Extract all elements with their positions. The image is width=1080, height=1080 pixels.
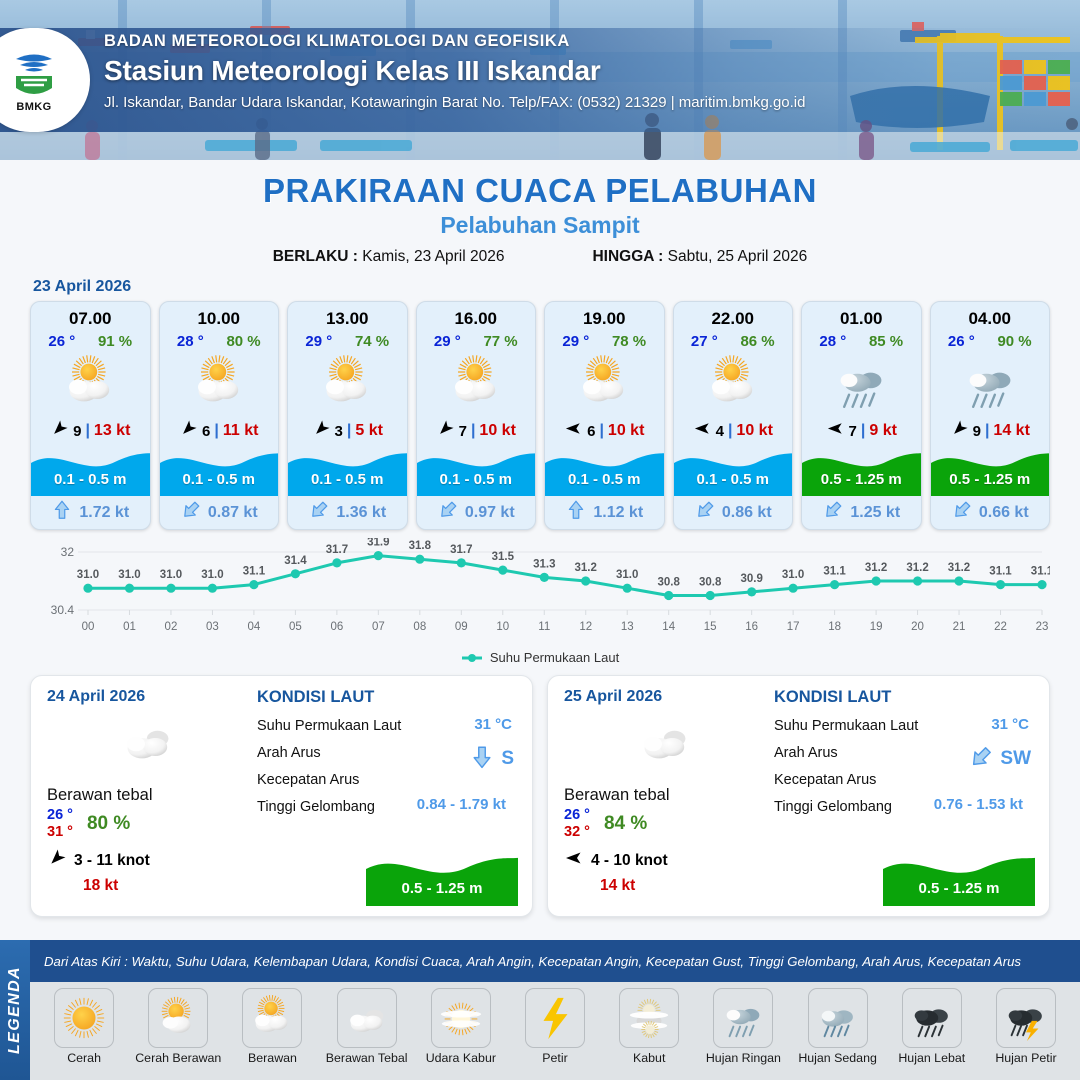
wind-direction-arrow-icon (564, 419, 583, 443)
forecast-card[interactable]: 16.00 29 ° 77 % 7 | 10 kt (416, 301, 537, 530)
card-time: 19.00 (545, 302, 664, 329)
day-temp-min: 26 ° (564, 807, 590, 824)
svg-text:31.4: 31.4 (284, 555, 307, 567)
svg-text:21: 21 (953, 621, 966, 633)
card-humidity: 91 % (98, 333, 132, 350)
svg-text:05: 05 (289, 621, 302, 633)
svg-text:31.0: 31.0 (118, 569, 140, 581)
overcast-icon (337, 988, 397, 1048)
svg-text:13: 13 (621, 621, 634, 633)
legend-item: Cerah Berawan (132, 988, 224, 1065)
current-direction-arrow-icon (308, 499, 330, 526)
legend-item-label: Berawan Tebal (326, 1051, 408, 1065)
forecast-card[interactable]: 10.00 28 ° 80 % 6 | 11 kt (159, 301, 280, 530)
day-wind: 4 - 10 knot (564, 848, 766, 873)
card-separator: | (728, 422, 732, 440)
sunny-icon (54, 988, 114, 1048)
svg-text:06: 06 (330, 621, 343, 633)
day-condition: Berawan tebal (564, 786, 766, 805)
svg-text:07: 07 (372, 621, 385, 633)
card-gust: 10 kt (608, 422, 644, 440)
legend-item-label: Hujan Sedang (798, 1051, 877, 1065)
current-direction-arrow-icon (822, 499, 844, 526)
card-current-speed: 1.72 kt (79, 504, 129, 522)
card-wave-height: 0.5 - 1.25 m (802, 471, 921, 488)
card-humidity: 74 % (355, 333, 389, 350)
card-gust: 5 kt (355, 422, 383, 440)
wind-direction-arrow-icon (693, 419, 712, 443)
card-wind: 4 | 10 kt (674, 416, 793, 446)
legend-section: LEGENDA Dari Atas Kiri : Waktu, Suhu Uda… (0, 940, 1080, 1080)
svg-text:31.9: 31.9 (367, 538, 389, 549)
svg-text:30.8: 30.8 (699, 577, 722, 589)
card-current: 1.12 kt (545, 496, 664, 529)
card-time: 10.00 (160, 302, 279, 329)
svg-text:15: 15 (704, 621, 717, 633)
valid-until-label: HINGGA : (592, 248, 663, 265)
card-separator: | (861, 422, 865, 440)
svg-text:31.1: 31.1 (989, 566, 1012, 578)
card-wind-direction: 9 (73, 423, 81, 440)
day-sea-conditions: KONDISI LAUT Suhu Permukaan Laut 31 °C A… (249, 688, 518, 904)
day-wind: 3 - 11 knot (47, 848, 249, 873)
card-time: 01.00 (802, 302, 921, 329)
svg-text:30.9: 30.9 (741, 573, 763, 585)
lightning-icon (525, 988, 585, 1048)
day-humidity: 80 % (87, 813, 130, 835)
wind-direction-arrow-icon (47, 848, 67, 873)
chart-legend: Suhu Permukaan Laut (0, 650, 1080, 665)
day-temp-max: 31 ° (47, 824, 73, 841)
card-time: 07.00 (31, 302, 150, 329)
card-wave-height: 0.1 - 0.5 m (674, 471, 793, 488)
svg-text:09: 09 (455, 621, 468, 633)
partly-cloudy-icon (31, 352, 150, 416)
card-current: 0.66 kt (931, 496, 1050, 529)
svg-text:22: 22 (994, 621, 1007, 633)
legend-note-bar: Dari Atas Kiri : Waktu, Suhu Udara, Kele… (30, 940, 1080, 982)
card-wave-height: 0.1 - 0.5 m (288, 471, 407, 488)
day-wave-height: 0.5 - 1.25 m (366, 880, 518, 897)
station-address: Jl. Iskandar, Bandar Udara Iskandar, Kot… (104, 94, 805, 111)
card-wind: 3 | 5 kt (288, 416, 407, 446)
legend-spine-label: LEGENDA (6, 966, 24, 1054)
card-wind-direction: 7 (849, 423, 857, 440)
svg-text:12: 12 (579, 621, 592, 633)
title-block: PRAKIRAAN CUACA PELABUHAN Pelabuhan Samp… (0, 160, 1080, 266)
legend-item-label: Hujan Lebat (898, 1051, 965, 1065)
current-speed-value: 0.84 - 1.79 kt (417, 796, 506, 813)
valid-until: HINGGA : Sabtu, 25 April 2026 (592, 248, 807, 266)
sst-value: 31 °C (474, 716, 512, 733)
valid-from-value: Kamis, 23 April 2026 (362, 248, 504, 265)
current-direction-arrow-icon (968, 744, 994, 774)
svg-text:31.3: 31.3 (533, 558, 555, 570)
svg-text:31.8: 31.8 (409, 540, 432, 552)
legend-item-label: Udara Kabur (426, 1051, 496, 1065)
svg-text:31.1: 31.1 (1031, 566, 1050, 578)
card-time: 22.00 (674, 302, 793, 329)
partly-cloudy-icon (545, 352, 664, 416)
svg-text:31.0: 31.0 (616, 569, 638, 581)
partly-cloudy-icon (417, 352, 536, 416)
card-gust: 10 kt (736, 422, 772, 440)
card-time: 13.00 (288, 302, 407, 329)
current-speed-label: Kecepatan Arus (774, 772, 1035, 788)
partly-cloudy-icon (674, 352, 793, 416)
card-separator: | (471, 422, 475, 440)
card-wave-height: 0.1 - 0.5 m (417, 471, 536, 488)
card-humidity: 78 % (612, 333, 646, 350)
valid-from-label: BERLAKU : (273, 248, 358, 265)
daily-summary-panel[interactable]: 25 April 2026 Berawan tebal 26 ° 32 ° 84… (547, 675, 1050, 917)
legend-item: Hujan Petir (980, 988, 1072, 1065)
card-temperature: 28 ° (177, 333, 204, 350)
day-wave-badge: 0.5 - 1.25 m (366, 850, 518, 906)
fog-icon (619, 988, 679, 1048)
card-current-speed: 1.36 kt (336, 504, 386, 522)
moderate-rain-icon (808, 988, 868, 1048)
partly-cloudy-icon (288, 352, 407, 416)
card-current: 0.86 kt (674, 496, 793, 529)
port-name: Pelabuhan Sampit (0, 212, 1080, 239)
card-separator: | (214, 422, 218, 440)
current-direction-arrow-icon (51, 499, 73, 526)
current-direction-value: SW (968, 744, 1031, 774)
legend-item-label: Hujan Petir (995, 1051, 1056, 1065)
legend-item-label: Hujan Ringan (706, 1051, 781, 1065)
svg-text:31.0: 31.0 (77, 569, 99, 581)
card-humidity: 85 % (869, 333, 903, 350)
card-temperature: 27 ° (691, 333, 718, 350)
day-condition: Berawan tebal (47, 786, 249, 805)
card-current-speed: 1.25 kt (850, 504, 900, 522)
sst-chart-svg: 3230.40001020304050607080910111213141516… (30, 538, 1050, 648)
card-wind: 9 | 13 kt (31, 416, 150, 446)
card-temperature: 29 ° (434, 333, 461, 350)
forecast-date-label: 23 April 2026 (33, 278, 1080, 296)
bmkg-emblem-icon (10, 48, 58, 100)
card-temp-hum: 29 ° 77 % (417, 329, 536, 350)
card-current: 0.97 kt (417, 496, 536, 529)
card-temperature: 29 ° (562, 333, 589, 350)
day-temps: 26 ° 32 ° 84 % (564, 807, 766, 840)
legend-item: Udara Kabur (415, 988, 507, 1065)
card-separator: | (85, 422, 89, 440)
light-rain-icon (713, 988, 773, 1048)
card-gust: 14 kt (993, 422, 1029, 440)
card-wind: 6 | 11 kt (160, 416, 279, 446)
station-name: Stasiun Meteorologi Kelas III Iskandar (104, 55, 805, 87)
light-rain-icon (931, 352, 1050, 416)
legend-item: Berawan Tebal (321, 988, 413, 1065)
card-wind-direction: 9 (973, 423, 981, 440)
card-temperature: 26 ° (948, 333, 975, 350)
card-wind-direction: 3 (335, 423, 343, 440)
svg-text:30.4: 30.4 (51, 603, 75, 617)
day-left: 25 April 2026 Berawan tebal 26 ° 32 ° 84… (564, 688, 766, 904)
card-wave: 0.1 - 0.5 m (545, 446, 664, 496)
day-temp-max: 32 ° (564, 824, 590, 841)
day-gust: 18 kt (83, 877, 249, 895)
chart-legend-label: Suhu Permukaan Laut (490, 650, 619, 665)
card-wave: 0.1 - 0.5 m (31, 446, 150, 496)
card-wind: 6 | 10 kt (545, 416, 664, 446)
current-direction-arrow-icon (951, 499, 973, 526)
card-wave: 0.5 - 1.25 m (931, 446, 1050, 496)
svg-text:23: 23 (1036, 621, 1049, 633)
legend-spine: LEGENDA (0, 940, 30, 1080)
svg-text:01: 01 (123, 621, 136, 633)
sst-chart: 3230.40001020304050607080910111213141516… (30, 538, 1050, 648)
card-temp-hum: 29 ° 78 % (545, 329, 664, 350)
svg-text:31.5: 31.5 (492, 551, 515, 563)
card-current: 1.36 kt (288, 496, 407, 529)
forecast-card[interactable]: 01.00 28 ° 85 % 7 | 9 kt (801, 301, 922, 530)
overcast-icon (564, 710, 766, 772)
svg-text:32: 32 (61, 545, 75, 559)
wind-direction-arrow-icon (50, 419, 69, 443)
mostly-sunny-icon (148, 988, 208, 1048)
forecast-card[interactable]: 22.00 27 ° 86 % 4 | 10 kt (673, 301, 794, 530)
card-gust: 13 kt (94, 422, 130, 440)
card-current-speed: 0.97 kt (465, 504, 515, 522)
day-temp-min: 26 ° (47, 807, 73, 824)
card-time: 04.00 (931, 302, 1050, 329)
day-wave-height: 0.5 - 1.25 m (883, 880, 1035, 897)
svg-text:30.8: 30.8 (658, 577, 681, 589)
card-current-speed: 1.12 kt (593, 504, 643, 522)
card-wind-direction: 6 (587, 423, 595, 440)
card-current-speed: 0.87 kt (208, 504, 258, 522)
card-temp-hum: 26 ° 90 % (931, 329, 1050, 350)
card-gust: 10 kt (479, 422, 515, 440)
card-wave: 0.1 - 0.5 m (417, 446, 536, 496)
card-separator: | (985, 422, 989, 440)
svg-text:31.7: 31.7 (326, 544, 348, 556)
wind-direction-arrow-icon (564, 848, 584, 873)
svg-text:31.0: 31.0 (160, 569, 182, 581)
legend-item-label: Petir (542, 1051, 567, 1065)
agency-name: BADAN METEOROLOGI KLIMATOLOGI DAN GEOFIS… (104, 32, 805, 51)
current-direction-arrow-icon (180, 499, 202, 526)
legend-item: Kabut (603, 988, 695, 1065)
svg-text:31.2: 31.2 (865, 562, 887, 574)
card-current-speed: 0.66 kt (979, 504, 1029, 522)
day-date: 25 April 2026 (564, 688, 766, 706)
svg-text:11: 11 (538, 621, 550, 633)
legend-item: Hujan Sedang (792, 988, 884, 1065)
legend-item: Cerah (38, 988, 130, 1065)
card-current: 1.25 kt (802, 496, 921, 529)
card-current: 0.87 kt (160, 496, 279, 529)
card-current: 1.72 kt (31, 496, 150, 529)
svg-text:31.2: 31.2 (575, 562, 597, 574)
card-wind: 9 | 14 kt (931, 416, 1050, 446)
card-wave: 0.1 - 0.5 m (674, 446, 793, 496)
daily-summary-panel[interactable]: 24 April 2026 Berawan tebal 26 ° 31 ° 80… (30, 675, 533, 917)
legend-item: Hujan Ringan (697, 988, 789, 1065)
legend-item-label: Cerah Berawan (135, 1051, 221, 1065)
card-humidity: 90 % (997, 333, 1031, 350)
svg-text:31.1: 31.1 (823, 566, 846, 578)
valid-until-value: Sabtu, 25 April 2026 (668, 248, 808, 265)
card-separator: | (599, 422, 603, 440)
current-direction-arrow-icon (565, 499, 587, 526)
current-direction-arrow-icon (437, 499, 459, 526)
card-gust: 9 kt (869, 422, 897, 440)
svg-text:31.2: 31.2 (948, 562, 970, 574)
forecast-card[interactable]: 13.00 29 ° 74 % 3 | 5 kt (287, 301, 408, 530)
day-gust: 14 kt (600, 877, 766, 895)
card-time: 16.00 (417, 302, 536, 329)
wind-direction-arrow-icon (436, 419, 455, 443)
day-wind-range: 3 - 11 knot (74, 852, 150, 870)
legend-note: Dari Atas Kiri : Waktu, Suhu Udara, Kele… (44, 954, 1021, 969)
legend-icon-row: Cerah Cerah Berawan Berawan (30, 982, 1080, 1080)
card-temperature: 29 ° (305, 333, 332, 350)
card-temp-hum: 28 ° 85 % (802, 329, 921, 350)
partly-cloudy-icon (160, 352, 279, 416)
heavy-rain-icon (902, 988, 962, 1048)
card-wave: 0.1 - 0.5 m (288, 446, 407, 496)
current-speed-label: Kecepatan Arus (257, 772, 518, 788)
wind-direction-arrow-icon (312, 419, 331, 443)
card-wind-direction: 6 (202, 423, 210, 440)
daily-summary-row: 24 April 2026 Berawan tebal 26 ° 31 ° 80… (0, 665, 1080, 917)
card-wave: 0.1 - 0.5 m (160, 446, 279, 496)
svg-text:31.0: 31.0 (201, 569, 223, 581)
svg-text:04: 04 (248, 621, 261, 633)
wind-direction-arrow-icon (179, 419, 198, 443)
legend-item: Petir (509, 988, 601, 1065)
sea-conditions-title: KONDISI LAUT (774, 688, 1035, 707)
card-humidity: 77 % (483, 333, 517, 350)
header-text-block: BADAN METEOROLOGI KLIMATOLOGI DAN GEOFIS… (104, 32, 805, 111)
card-wind: 7 | 9 kt (802, 416, 921, 446)
card-current-speed: 0.86 kt (722, 504, 772, 522)
card-wind-direction: 7 (459, 423, 467, 440)
svg-text:03: 03 (206, 621, 219, 633)
page-header: BMKG BADAN METEOROLOGI KLIMATOLOGI DAN G… (0, 0, 1080, 160)
current-direction-arrow-icon (694, 499, 716, 526)
sea-conditions-title: KONDISI LAUT (257, 688, 518, 707)
wind-direction-arrow-icon (950, 419, 969, 443)
legend-item-label: Kabut (633, 1051, 665, 1065)
light-rain-icon (802, 352, 921, 416)
card-temp-hum: 26 ° 91 % (31, 329, 150, 350)
day-sea-conditions: KONDISI LAUT Suhu Permukaan Laut 31 °C A… (766, 688, 1035, 904)
thunderstorm-rain-icon (996, 988, 1056, 1048)
card-humidity: 86 % (740, 333, 774, 350)
svg-text:10: 10 (496, 621, 509, 633)
wind-direction-arrow-icon (826, 419, 845, 443)
card-temp-hum: 29 ° 74 % (288, 329, 407, 350)
svg-text:00: 00 (82, 621, 95, 633)
day-humidity: 84 % (604, 813, 647, 835)
valid-from: BERLAKU : Kamis, 23 April 2026 (273, 248, 505, 266)
card-wave-height: 0.5 - 1.25 m (931, 471, 1050, 488)
forecast-card-row: 07.00 26 ° 91 % 9 | 13 kt (0, 301, 1080, 530)
day-temps: 26 ° 31 ° 80 % (47, 807, 249, 840)
forecast-card[interactable]: 04.00 26 ° 90 % 9 | 14 kt (930, 301, 1051, 530)
card-wave-height: 0.1 - 0.5 m (160, 471, 279, 488)
card-wave-height: 0.1 - 0.5 m (545, 471, 664, 488)
svg-text:17: 17 (787, 621, 800, 633)
page-title: PRAKIRAAN CUACA PELABUHAN (0, 172, 1080, 210)
bmkg-logo-text: BMKG (16, 101, 51, 113)
svg-text:08: 08 (413, 621, 426, 633)
card-wave: 0.5 - 1.25 m (802, 446, 921, 496)
current-speed-value: 0.76 - 1.53 kt (934, 796, 1023, 813)
chart-legend-marker-icon (461, 653, 483, 663)
svg-text:16: 16 (745, 621, 758, 633)
card-wind: 7 | 10 kt (417, 416, 536, 446)
legend-item-label: Berawan (248, 1051, 297, 1065)
svg-text:20: 20 (911, 621, 924, 633)
svg-text:18: 18 (828, 621, 841, 633)
card-temperature: 28 ° (819, 333, 846, 350)
card-wind-direction: 4 (716, 423, 724, 440)
card-temp-hum: 28 ° 80 % (160, 329, 279, 350)
sst-value: 31 °C (991, 716, 1029, 733)
svg-text:19: 19 (870, 621, 883, 633)
haze-icon (431, 988, 491, 1048)
svg-text:02: 02 (165, 621, 178, 633)
card-gust: 11 kt (223, 422, 259, 440)
card-wave-height: 0.1 - 0.5 m (31, 471, 150, 488)
card-humidity: 80 % (226, 333, 260, 350)
current-direction-arrow-icon (469, 744, 495, 774)
day-wind-range: 4 - 10 knot (591, 852, 668, 870)
current-direction-value: S (469, 744, 514, 774)
partly-cloudy-icon (242, 988, 302, 1048)
day-left: 24 April 2026 Berawan tebal 26 ° 31 ° 80… (47, 688, 249, 904)
overcast-icon (47, 710, 249, 772)
card-temp-hum: 27 ° 86 % (674, 329, 793, 350)
forecast-card[interactable]: 07.00 26 ° 91 % 9 | 13 kt (30, 301, 151, 530)
card-temperature: 26 ° (48, 333, 75, 350)
day-date: 24 April 2026 (47, 688, 249, 706)
day-wave-badge: 0.5 - 1.25 m (883, 850, 1035, 906)
svg-text:31.2: 31.2 (906, 562, 928, 574)
legend-item: Hujan Lebat (886, 988, 978, 1065)
svg-text:14: 14 (662, 621, 675, 633)
svg-text:31.7: 31.7 (450, 544, 472, 556)
forecast-card[interactable]: 19.00 29 ° 78 % 6 | 10 kt (544, 301, 665, 530)
svg-text:31.0: 31.0 (782, 569, 804, 581)
card-separator: | (347, 422, 351, 440)
legend-item-label: Cerah (67, 1051, 101, 1065)
svg-text:31.1: 31.1 (243, 566, 266, 578)
validity-row: BERLAKU : Kamis, 23 April 2026 HINGGA : … (0, 248, 1080, 266)
legend-item: Berawan (226, 988, 318, 1065)
